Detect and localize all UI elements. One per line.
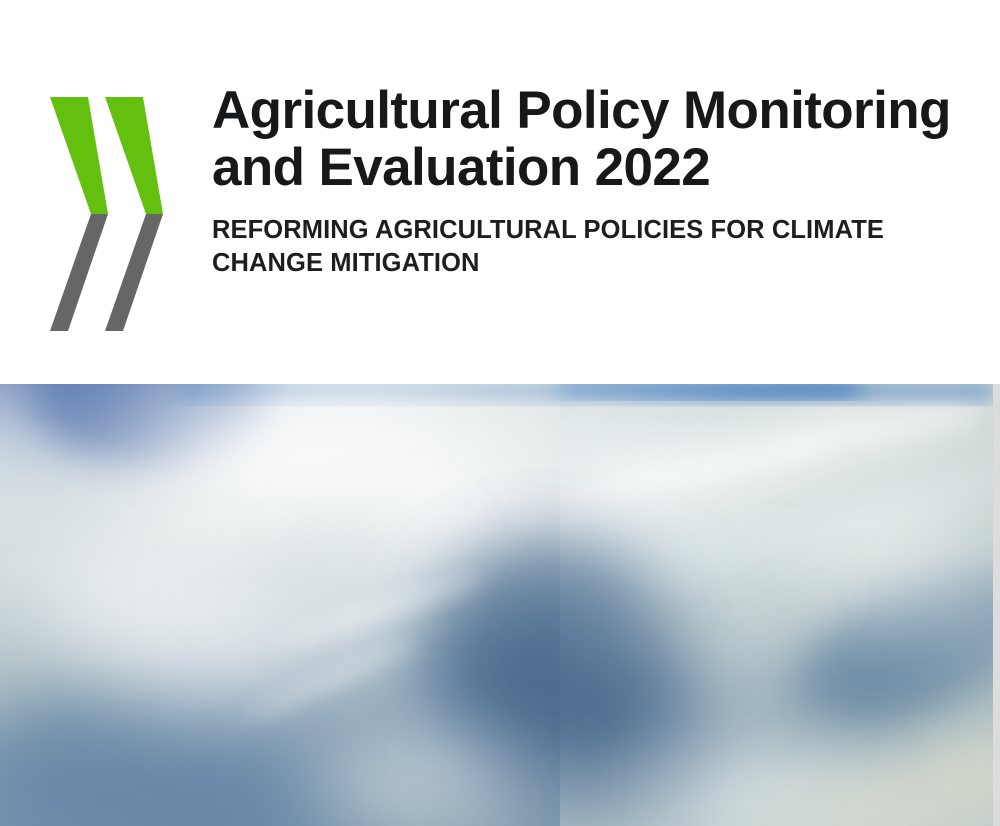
report-cover: Agricultural Policy Monitoring and Evalu… bbox=[0, 0, 1000, 826]
oecd-double-chevron-logo bbox=[46, 94, 176, 334]
chevron-2-green bbox=[105, 97, 163, 214]
page-subtitle: REFORMING AGRICULTURAL POLICIES FOR CLIM… bbox=[212, 214, 952, 280]
chevron-1-grey bbox=[50, 214, 108, 331]
page-title: Agricultural Policy Monitoring and Evalu… bbox=[212, 82, 952, 196]
right-edge-strip bbox=[993, 384, 1000, 826]
title-block: Agricultural Policy Monitoring and Evalu… bbox=[212, 82, 952, 280]
chevron-2-grey bbox=[105, 214, 163, 331]
chevron-1-green bbox=[50, 97, 108, 214]
